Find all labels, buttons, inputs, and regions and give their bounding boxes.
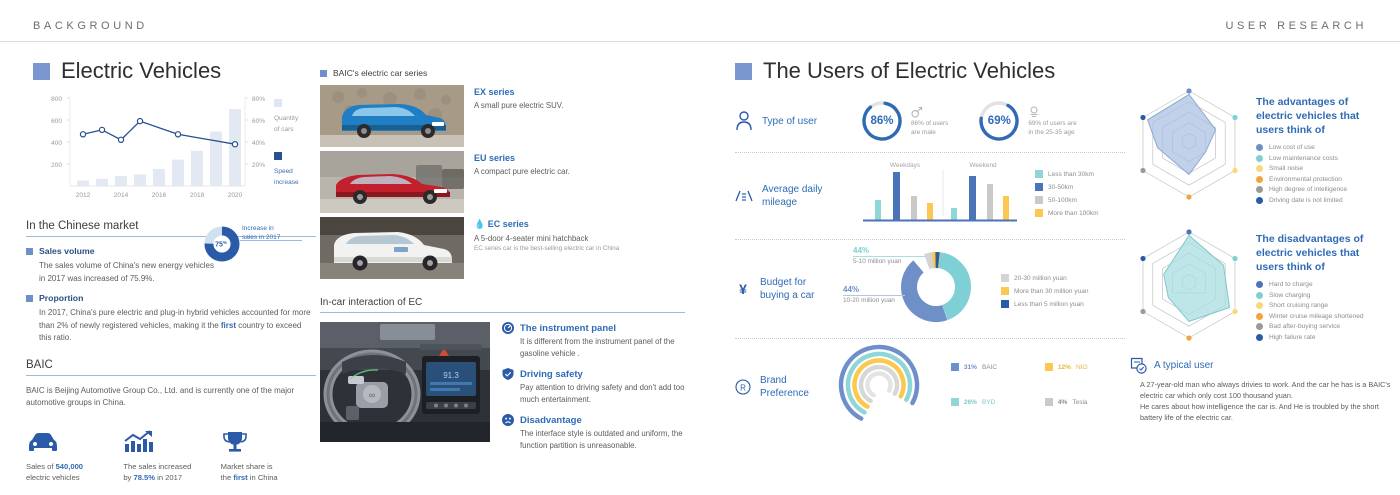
mileage-group-label-weekdays: Weekdays (890, 162, 921, 169)
bullet-square-icon (320, 70, 327, 77)
legend-item-more-100: More than 100km (1035, 209, 1099, 217)
mileage-label-l2: mileage (762, 197, 797, 208)
car-title-ec-text: EC series (488, 219, 529, 229)
legend-item-quantity: Quantity of cars (274, 94, 299, 134)
age-ring-value: 69% (976, 98, 1022, 144)
car-desc-ec: A 5-door 4-seater mini hatchback (474, 233, 685, 244)
svg-text:2016: 2016 (152, 192, 167, 199)
svg-text:200: 200 (51, 162, 62, 169)
svg-text:91.3: 91.3 (443, 371, 459, 380)
legend-item-speed: Speed increase (274, 147, 299, 187)
advantages-title-l3: users think of (1256, 124, 1325, 136)
mileage-legend: Less than 30km 30-50km 50-100km More tha… (1035, 170, 1099, 222)
legend-pct: 4% (1058, 399, 1067, 406)
far-right-column: The advantages of electric vehicles that… (1130, 85, 1400, 423)
brand-label-l1: Brand (760, 375, 787, 386)
kpi-growth-value: 78.5% (133, 473, 155, 482)
registered-icon: R (735, 379, 751, 395)
bullet-label-proportion: Proportion (39, 293, 83, 303)
advantage-item-5: High degree of intelligence (1256, 186, 1359, 193)
section-marker-square (735, 63, 752, 80)
sales-increase-donut-svg: 75% (204, 226, 240, 262)
label-car-series: BAIC's electric car series (333, 68, 427, 78)
section-title-electric-vehicles: Electric Vehicles (33, 58, 221, 84)
mileage-label-l1: Average daily (762, 184, 822, 195)
radar-vertex-dot (1186, 194, 1191, 199)
yuan-icon: ¥ (735, 281, 751, 297)
legend-item-less-30: Less than 30km (1035, 170, 1099, 178)
legend-swatch (951, 398, 959, 406)
interaction-items: The instrument panel It is different fro… (490, 322, 685, 460)
male-desc-l1: 86% of users (911, 119, 948, 128)
kpi-growth-text: The sales increasedby 78.5% in 2017 (123, 461, 218, 483)
disadvantage-item-6: High failure rate (1256, 334, 1364, 341)
legend-dot (1256, 323, 1263, 330)
disadvantage-label-3: Short cruising range (1269, 302, 1328, 309)
typical-user-title: A typical user (1154, 360, 1213, 371)
disadvantages-title: The disadvantages of electric vehicles t… (1256, 232, 1364, 274)
ring-group-male: 86% 86% of users are male (859, 98, 948, 144)
car-title-ex: EX series (474, 87, 685, 97)
kpi-growth: The sales increasedby 78.5% in 2017 (123, 422, 218, 483)
kpi-sales-text: Sales of 540,000electric vehicles (26, 461, 121, 483)
kpi-market-l2pre: the (221, 473, 234, 482)
interaction-head-1: The instrument panel (502, 322, 685, 334)
advantages-radar (1130, 85, 1248, 212)
disadvantages-block: The disadvantages of electric vehicles t… (1130, 226, 1400, 353)
legend-swatch (1035, 170, 1043, 178)
advantage-item-4: Environmental protection (1256, 176, 1359, 183)
disadvantage-item-5: Bad after-buying service (1256, 323, 1364, 330)
bullet-car-series: BAIC's electric car series (320, 68, 685, 78)
legend-label-speed-l2: increase (274, 178, 299, 187)
svg-text:R: R (740, 384, 746, 393)
gauge-icon (502, 322, 514, 334)
growth-chart-icon (123, 422, 218, 454)
car-title-ec: 💧 EC series (474, 219, 685, 230)
svg-text:400: 400 (51, 140, 62, 147)
radar-vertex-dot (1186, 229, 1191, 234)
label-type-of-user: Type of user (735, 111, 855, 131)
legend-dot (1256, 176, 1263, 183)
legend-label: 30-50km (1048, 184, 1073, 191)
car-row-ex: EX series A small pure electric SUV. (320, 85, 685, 147)
legend-label: Less than 5 million yuan (1014, 301, 1084, 308)
kpi-growth-l2post: in 2017 (155, 473, 182, 482)
advantage-label-6: Driving date is not limited (1269, 197, 1343, 204)
row-average-daily-mileage: Average daily mileage Weekdays Weekend (735, 153, 1125, 239)
row-type-of-user: Type of user 86% 86% of users (735, 90, 1125, 152)
legend-dot (1256, 334, 1263, 341)
budget-label-l1: Budget for (760, 277, 806, 288)
disadvantage-item-1: Hard to charge (1256, 281, 1364, 288)
interaction-head-2: Driving safety (502, 368, 685, 380)
typical-user-body-1: A 27-year-old man who always drivies to … (1140, 379, 1400, 401)
interaction-body-2: Pay attention to driving safety and don'… (520, 382, 685, 405)
kpi-market-l2post: in China (248, 473, 278, 482)
legend-pct: 26% (964, 399, 977, 406)
radar-vertex-dot (1140, 168, 1145, 173)
disadvantage-label-2: Slow charging (1269, 292, 1310, 299)
legend-label: 20-30 million yuan (1014, 275, 1067, 282)
legend-swatch (1001, 287, 1009, 295)
svg-text:80%: 80% (252, 96, 265, 103)
callout-rule (853, 256, 927, 257)
legend-swatch (1035, 209, 1043, 217)
disadvantages-title-l1: The disadvantages of (1256, 233, 1363, 245)
male-users-ring: 86% (859, 98, 905, 144)
legend-item-30-50: 30-50km (1035, 183, 1099, 191)
age-users-ring: 69% (976, 98, 1022, 144)
car-row-ec: 💧 EC series A 5-door 4-seater mini hatch… (320, 217, 685, 279)
svg-text:∞: ∞ (369, 390, 375, 400)
kpi-sales-value: 540,000 (56, 462, 83, 471)
kpi-market-line1: Market share is (221, 462, 273, 471)
bullet-square-icon (26, 295, 33, 302)
disadvantage-label-5: Bad after-buying service (1269, 323, 1340, 330)
svg-text:2018: 2018 (190, 192, 205, 199)
radar-vertex-dot (1232, 256, 1237, 261)
legend-label: BYD (982, 399, 995, 406)
radar-vertex-dot (1232, 115, 1237, 120)
ev-chart-legend: Quantity of cars Speed increase (274, 94, 299, 200)
legend-item-50-100: 50-100km (1035, 196, 1099, 204)
interaction-title-1: The instrument panel (520, 323, 616, 334)
legend-label: Less than 30km (1048, 171, 1094, 178)
callout-sales-increase: Increase in sales in 2017 (242, 224, 280, 242)
svg-text:20%: 20% (252, 162, 265, 169)
brand-preference-chart (835, 341, 921, 434)
advantage-label-2: Low maintenance costs (1269, 155, 1338, 162)
label-brand-text: Brand Preference (760, 374, 809, 400)
trophy-icon (221, 422, 316, 454)
user-profile-icon (1130, 357, 1147, 374)
label-average-mileage: Average daily mileage (735, 183, 855, 209)
legend-dot (1256, 302, 1263, 309)
svg-text:2012: 2012 (76, 192, 91, 199)
budget-legend: 20-30 million yuan More than 30 million … (1001, 274, 1088, 313)
legend-label: 50-100km (1048, 197, 1077, 204)
car-desc-eu: A compact pure electric car. (474, 166, 685, 177)
person-icon (735, 111, 753, 131)
radar-vertex-dot (1140, 309, 1145, 314)
white-hatchback-photo (320, 217, 464, 279)
legend-label-speed-l1: Speed (274, 167, 299, 176)
callout-line1: Increase in (242, 224, 280, 233)
blue-suv-photo (320, 85, 464, 147)
typical-user-head: A typical user (1130, 357, 1400, 374)
disadvantages-text: The disadvantages of electric vehicles t… (1256, 226, 1364, 353)
interaction-title-2: Driving safety (520, 369, 583, 380)
disadvantage-label-6: High failure rate (1269, 334, 1316, 341)
legend-swatch (1045, 363, 1053, 371)
legend-dot (1256, 186, 1263, 193)
legend-item-20-30: 20-30 million yuan (1001, 274, 1088, 282)
car-desc-ex: A small pure electric SUV. (474, 100, 685, 111)
legend-item-baic: 31% BAIC (951, 363, 1037, 371)
header-right-label: USER RESEARCH (1225, 20, 1367, 32)
callout-rule (843, 295, 905, 296)
interaction-content: ∞ 91.3 (320, 322, 685, 460)
shield-icon (502, 368, 514, 380)
legend-label: BAIC (982, 364, 997, 371)
legend-item-less-5: Less than 5 million yuan (1001, 300, 1088, 308)
kpi-sales-line2: electric vehicles (26, 473, 80, 482)
disadvantages-title-l3: users think of (1256, 261, 1325, 273)
bullet-sales-volume: Sales volume (26, 246, 316, 256)
section-marker-square (33, 63, 50, 80)
label-budget-text: Budget for buying a car (760, 276, 814, 302)
legend-dot (1256, 197, 1263, 204)
callout-pct: 44% (853, 246, 927, 255)
infographic-page: BACKGROUND USER RESEARCH Electric Vehicl… (0, 0, 1400, 495)
interaction-title-3: Disadvantage (520, 415, 582, 426)
radar-vertex-dot (1140, 256, 1145, 261)
svg-text:600: 600 (51, 118, 62, 125)
page-header: BACKGROUND USER RESEARCH (0, 0, 1400, 42)
svg-text:2020: 2020 (228, 192, 243, 199)
page-title: Electric Vehicles (61, 58, 221, 84)
age-desc-l2: in the 25-35 age (1028, 128, 1076, 137)
radar-vertex-dot (1232, 168, 1237, 173)
disadvantage-item-3: Short cruising range (1256, 302, 1364, 309)
legend-item-byd: 26% BYD (951, 398, 1037, 406)
water-drop-icon: 💧 (474, 219, 485, 229)
advantages-title: The advantages of electric vehicles that… (1256, 95, 1359, 137)
text-baic-intro: BAIC is Beijing Automotive Group Co., Lt… (26, 385, 316, 410)
advantage-label-4: Environmental protection (1269, 176, 1342, 183)
callout-label: 5-10 million yuan (853, 258, 927, 265)
radar-vertex-dot (1186, 88, 1191, 93)
radar-vertex-dot (1232, 309, 1237, 314)
bullet-label-sales-volume: Sales volume (39, 246, 95, 256)
advantage-item-1: Low cost of use (1256, 144, 1359, 151)
red-sedan-photo (320, 151, 464, 213)
disadvantage-label-1: Hard to charge (1269, 281, 1313, 288)
advantage-label-3: Small noise (1269, 165, 1303, 172)
text-sales-volume: The sales volume of China's new energy v… (39, 260, 217, 285)
header-left-label: BACKGROUND (33, 20, 148, 32)
legend-swatch (1001, 300, 1009, 308)
interaction-item-instrument-panel: The instrument panel It is different fro… (502, 322, 685, 359)
sad-face-icon (502, 414, 514, 426)
ring-group-age: 69% 69% of users are in the 25-35 age (976, 98, 1076, 144)
subheading-baic: BAIC (26, 359, 316, 376)
legend-swatch (951, 363, 959, 371)
age-icon (1028, 106, 1040, 118)
ev-quantity-speed-chart: 800 600 400 200 80% 60% 40% 20% (26, 90, 316, 210)
budget-label-l2: buying a car (760, 290, 814, 301)
legend-label: More than 30 million yuan (1014, 288, 1088, 295)
legend-swatch (1035, 183, 1043, 191)
interaction-head-3: Disadvantage (502, 414, 685, 426)
advantage-label-5: High degree of intelligence (1269, 186, 1347, 193)
row-budget: ¥ Budget for buying a car (735, 240, 1125, 338)
in-car-interaction-block: In-car interaction of EC ∞ (320, 297, 685, 460)
interaction-item-disadvantage: Disadvantage The interface style is outd… (502, 414, 685, 451)
bullet-square-icon (26, 248, 33, 255)
legend-dot (1256, 313, 1263, 320)
average-daily-mileage-chart: Weekdays Weekend (855, 158, 1023, 235)
advantage-item-2: Low maintenance costs (1256, 155, 1359, 162)
brand-legend: 31% BAIC 12% NIO 26% BYD 4% Tesla (951, 363, 1131, 411)
legend-label-quantity-l2: of cars (274, 125, 299, 134)
label-budget: ¥ Budget for buying a car (735, 276, 855, 302)
typical-user-body-2: He cares about how intelligence the car … (1140, 401, 1400, 423)
legend-label: More than 100km (1048, 210, 1099, 217)
mileage-group-label-weekend: Weekend (969, 162, 997, 169)
legend-label: NIO (1076, 364, 1088, 371)
legend-swatch (1035, 196, 1043, 204)
advantages-title-l2: electric vehicles that (1256, 110, 1359, 122)
advantages-title-l1: The advantages of (1256, 96, 1348, 108)
kpi-market-value: first (233, 473, 247, 482)
legend-label: Tesla (1072, 399, 1087, 406)
bar-group (77, 109, 241, 186)
male-icon (911, 106, 923, 118)
label-type-of-user-text: Type of user (762, 115, 817, 128)
sales-increase-donut: 75% (204, 226, 240, 267)
disadvantages-title-l2: electric vehicles that (1256, 247, 1359, 259)
legend-swatch-quantity (274, 99, 282, 107)
label-average-mileage-text: Average daily mileage (762, 183, 822, 209)
legend-swatch-speed (274, 152, 282, 160)
kpi-growth-l2pre: by (123, 473, 133, 482)
disadvantages-radar (1130, 226, 1248, 353)
car-info-eu: EU series A compact pure electric car. (474, 151, 685, 213)
callout-label: 10-20 million yuan (843, 297, 905, 304)
legend-swatch (1045, 398, 1053, 406)
kpi-market-share: Market share isthe first in China (221, 422, 316, 483)
legend-item-nio: 12% NIO (1045, 363, 1131, 371)
typical-user-block: A typical user A 27-year-old man who alw… (1130, 357, 1400, 423)
budget-callout-10-20: 44% 10-20 million yuan (843, 285, 905, 304)
advantages-block: The advantages of electric vehicles that… (1130, 85, 1400, 212)
legend-dot (1256, 155, 1263, 162)
advantage-item-3: Small noise (1256, 165, 1359, 172)
mileage-icon (735, 188, 753, 204)
svg-text:800: 800 (51, 96, 62, 103)
left-column: 800 600 400 200 80% 60% 40% 20% (26, 90, 316, 483)
radar-vertex-dot (1140, 115, 1145, 120)
disadvantage-item-4: Winter cruise mileage shortened (1256, 313, 1364, 320)
legend-swatch (1001, 274, 1009, 282)
text-proportion-highlight: first (221, 321, 236, 330)
disadvantage-item-2: Slow charging (1256, 292, 1364, 299)
svg-text:40%: 40% (252, 140, 265, 147)
legend-dot (1256, 281, 1263, 288)
car-info-ec: 💧 EC series A 5-door 4-seater mini hatch… (474, 217, 685, 279)
car-dashboard-photo: ∞ 91.3 (320, 322, 490, 442)
baic-kpi-row: Sales of 540,000electric vehicles (26, 422, 316, 483)
svg-text:60%: 60% (252, 118, 265, 125)
advantages-text: The advantages of electric vehicles that… (1256, 85, 1359, 212)
callout-line2: sales in 2017 (242, 233, 280, 242)
disadvantage-label-4: Winter cruise mileage shortened (1269, 313, 1364, 320)
interaction-body-1: It is different from the instrument pane… (520, 336, 685, 359)
kpi-sales-pre: Sales of (26, 462, 56, 471)
chinese-market-block: In the Chinese market Sales volume The s… (26, 220, 316, 345)
car-row-eu: EU series A compact pure electric car. (320, 151, 685, 213)
middle-column: BAIC's electric car series (320, 68, 685, 460)
right-column: Type of user 86% 86% of users (735, 90, 1125, 435)
text-proportion: In 2017, China's pure electric and plug-… (39, 307, 316, 345)
car-info-ex: EX series A small pure electric SUV. (474, 85, 685, 147)
subheading-in-car-interaction: In-car interaction of EC (320, 297, 685, 313)
kpi-growth-line1: The sales increased (123, 462, 191, 471)
legend-label-quantity-l1: Quantity (274, 114, 299, 123)
budget-callout-5-10: 44% 5-10 million yuan (853, 246, 927, 265)
svg-text:2014: 2014 (114, 192, 129, 199)
age-desc-l1: 69% of users are (1028, 119, 1076, 128)
advantage-item-6: Driving date is not limited (1256, 197, 1359, 204)
male-ring-value: 86% (859, 98, 905, 144)
car-icon (26, 422, 121, 454)
bullet-proportion: Proportion (26, 293, 316, 303)
legend-dot (1256, 165, 1263, 172)
legend-item-tesla: 4% Tesla (1045, 398, 1131, 406)
male-ring-desc: 86% of users are male (911, 106, 948, 137)
row-brand-preference: R Brand Preference (735, 339, 1125, 435)
advantage-label-1: Low cost of use (1269, 144, 1315, 151)
age-ring-desc: 69% of users are in the 25-35 age (1028, 106, 1076, 137)
interaction-item-driving-safety: Driving safety Pay attention to driving … (502, 368, 685, 405)
section-title-users: The Users of Electric Vehicles (735, 58, 1055, 84)
radar-vertex-dot (1186, 335, 1191, 340)
ev-chart-svg: 800 600 400 200 80% 60% 40% 20% (26, 90, 316, 210)
callout-pct: 44% (843, 285, 905, 294)
kpi-sales: Sales of 540,000electric vehicles (26, 422, 121, 483)
male-desc-l2: are male (911, 128, 948, 137)
legend-dot (1256, 144, 1263, 151)
brand-label-l2: Preference (760, 388, 809, 399)
label-brand-preference: R Brand Preference (735, 374, 809, 400)
svg-text:¥: ¥ (739, 281, 747, 297)
legend-pct: 12% (1058, 364, 1071, 371)
car-note-ec: EC series car is the best-selling electr… (474, 245, 685, 252)
car-title-eu: EU series (474, 153, 685, 163)
legend-pct: 31% (964, 364, 977, 371)
legend-item-more-30: More than 30 million yuan (1001, 287, 1088, 295)
legend-dot (1256, 292, 1263, 299)
users-section-title: The Users of Electric Vehicles (763, 58, 1055, 84)
kpi-market-text: Market share isthe first in China (221, 461, 316, 483)
baic-block: BAIC BAIC is Beijing Automotive Group Co… (26, 359, 316, 483)
interaction-body-3: The interface style is outdated and unif… (520, 428, 685, 451)
